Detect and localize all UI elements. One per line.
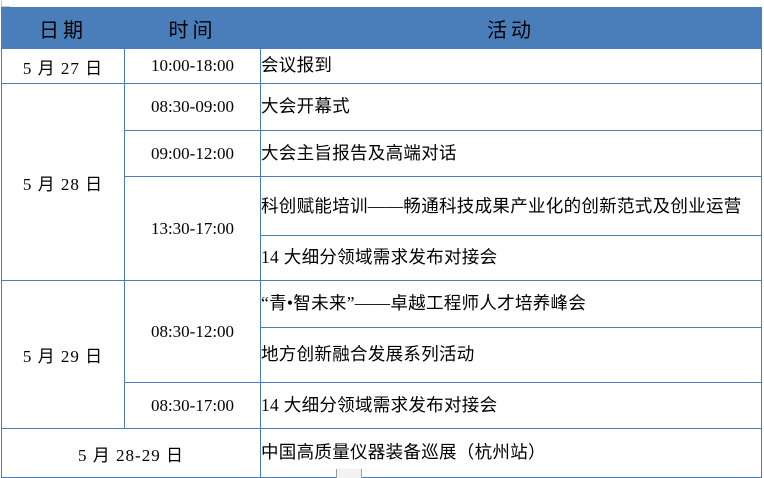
cell-activity-registration: 会议报到 bbox=[261, 49, 762, 84]
table-row: 5 月 27 日 10:00-18:00 会议报到 bbox=[2, 49, 762, 84]
cell-date-may28: 5 月 28 日 bbox=[2, 84, 125, 281]
column-header-activity: 活动 bbox=[261, 8, 762, 49]
page-corner-mark bbox=[1, 0, 10, 7]
column-header-time: 时间 bbox=[125, 8, 261, 49]
table-body: 5 月 27 日 10:00-18:00 会议报到 5 月 28 日 08:30… bbox=[2, 49, 762, 478]
table-row: 5 月 28-29 日 中国高质量仪器装备巡展（杭州站） bbox=[2, 429, 762, 478]
cell-time-1000-1800: 10:00-18:00 bbox=[125, 49, 261, 84]
cell-activity-demand-matchmaking-28: 14 大细分领域需求发布对接会 bbox=[261, 236, 762, 281]
table-row: 5 月 28 日 08:30-09:00 大会开幕式 bbox=[2, 84, 762, 131]
cell-activity-local-innovation: 地方创新融合发展系列活动 bbox=[261, 328, 762, 383]
cell-date-may27: 5 月 27 日 bbox=[2, 49, 125, 84]
table-row: 5 月 29 日 08:30-12:00 “青•智未来”——卓越工程师人才培养峰… bbox=[2, 281, 762, 328]
table-header: 日期 时间 活动 bbox=[2, 8, 762, 49]
document-page: 日期 时间 活动 5 月 27 日 10:00-18:00 会议报到 5 月 2… bbox=[0, 0, 764, 478]
cell-activity-demand-matchmaking-29: 14 大细分领域需求发布对接会 bbox=[261, 383, 762, 429]
table-header-row: 日期 时间 活动 bbox=[2, 8, 762, 49]
cell-time-0830-1700: 08:30-17:00 bbox=[125, 383, 261, 429]
cell-activity-opening-ceremony: 大会开幕式 bbox=[261, 84, 762, 131]
cell-date-may29: 5 月 29 日 bbox=[2, 281, 125, 429]
cell-activity-youth-summit: “青•智未来”——卓越工程师人才培养峰会 bbox=[261, 281, 762, 328]
conference-schedule-table: 日期 时间 活动 5 月 27 日 10:00-18:00 会议报到 5 月 2… bbox=[1, 7, 762, 478]
cell-date-may28-29: 5 月 28-29 日 bbox=[2, 429, 261, 478]
cell-activity-keynote-dialogue: 大会主旨报告及高端对话 bbox=[261, 131, 762, 177]
cell-time-0900-1200: 09:00-12:00 bbox=[125, 131, 261, 177]
cell-activity-innovation-training: 科创赋能培训——畅通科技成果产业化的创新范式及创业运营 bbox=[261, 177, 762, 236]
table-resize-handle[interactable] bbox=[336, 469, 362, 478]
column-header-date: 日期 bbox=[2, 8, 125, 49]
cell-time-0830-0900: 08:30-09:00 bbox=[125, 84, 261, 131]
cell-time-1330-1700: 13:30-17:00 bbox=[125, 177, 261, 281]
cell-time-0830-1200: 08:30-12:00 bbox=[125, 281, 261, 383]
